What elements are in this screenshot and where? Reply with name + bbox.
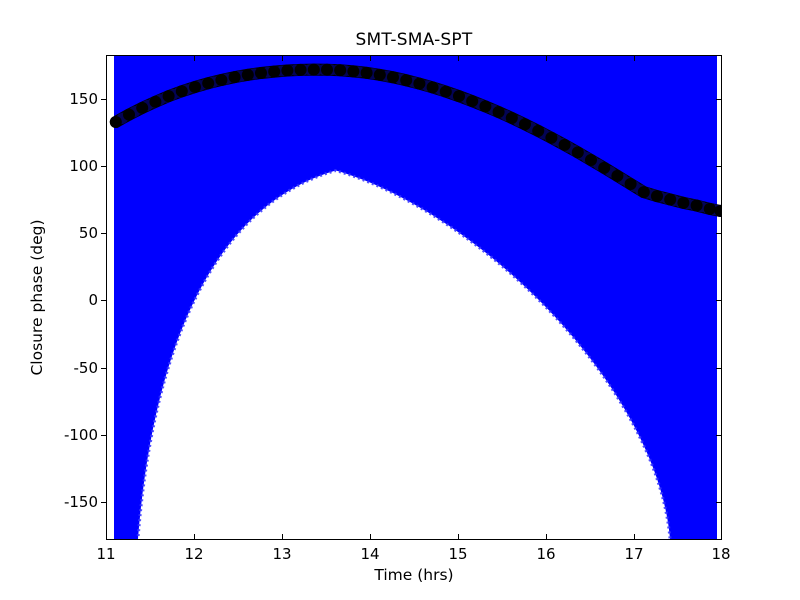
xtick-mark-top-14 xyxy=(370,56,371,61)
data-point-marker xyxy=(664,193,676,205)
xtick-mark-top-13 xyxy=(282,56,283,61)
data-point-marker xyxy=(598,162,610,174)
data-point-marker xyxy=(149,96,161,108)
data-point-marker xyxy=(202,77,214,89)
xtick-mark-top-12 xyxy=(194,56,195,61)
data-point-marker xyxy=(295,64,307,76)
xtick-mark-14 xyxy=(370,534,371,539)
xtick-mark-17 xyxy=(634,534,635,539)
data-point-marker xyxy=(308,64,320,76)
ytick-mark-right-neg100 xyxy=(716,435,721,436)
data-point-marker xyxy=(427,81,439,93)
data-point-marker xyxy=(572,146,584,158)
ytick-mark-right-100 xyxy=(716,166,721,167)
data-point-marker xyxy=(268,66,280,78)
data-point-marker xyxy=(163,90,175,102)
xtick-label-12: 12 xyxy=(164,545,224,563)
x-axis-label: Time (hrs) xyxy=(106,566,722,584)
xtick-label-15: 15 xyxy=(428,545,488,563)
data-point-marker xyxy=(559,139,571,151)
ytick-mark-neg100 xyxy=(101,435,106,436)
data-point-marker xyxy=(479,100,491,112)
ytick-mark-50 xyxy=(101,233,106,234)
data-point-marker xyxy=(255,67,267,79)
ytick-mark-right-0 xyxy=(716,300,721,301)
data-point-marker xyxy=(347,65,359,77)
data-point-marker xyxy=(453,90,465,102)
data-point-marker xyxy=(506,112,518,124)
data-point-marker xyxy=(189,81,201,93)
ytick-mark-neg150 xyxy=(101,502,106,503)
xtick-label-18: 18 xyxy=(691,545,751,563)
xtick-mark-top-17 xyxy=(634,56,635,61)
ytick-label-100: 100 xyxy=(38,157,98,175)
xtick-mark-13 xyxy=(282,534,283,539)
ytick-mark-right-50 xyxy=(716,233,721,234)
xtick-label-16: 16 xyxy=(516,545,576,563)
data-point-marker xyxy=(387,71,399,83)
data-point-marker xyxy=(176,85,188,97)
xtick-label-11: 11 xyxy=(76,545,136,563)
ytick-label-0: 0 xyxy=(38,291,98,309)
ytick-mark-right-150 xyxy=(716,99,721,100)
data-point-marker xyxy=(374,69,386,81)
xtick-mark-16 xyxy=(546,534,547,539)
data-point-marker xyxy=(519,118,531,130)
data-point-marker xyxy=(110,116,122,128)
data-point-marker xyxy=(281,65,293,77)
data-point-marker xyxy=(361,67,373,79)
figure-canvas: SMT-SMA-SPT xyxy=(0,0,800,600)
data-point-marker xyxy=(532,125,544,137)
data-point-marker xyxy=(136,102,148,114)
chart-title: SMT-SMA-SPT xyxy=(106,30,722,50)
data-point-marker xyxy=(585,154,597,166)
data-point-marker xyxy=(493,106,505,118)
ytick-label-neg100: -100 xyxy=(38,426,98,444)
data-point-marker xyxy=(704,203,716,215)
xtick-mark-top-15 xyxy=(458,56,459,61)
ytick-label-neg150: -150 xyxy=(38,493,98,511)
y-axis-label: Closure phase (deg) xyxy=(28,55,46,540)
xtick-mark-11 xyxy=(106,534,107,539)
data-point-marker xyxy=(440,86,452,98)
ytick-mark-right-neg150 xyxy=(716,502,721,503)
ytick-mark-0 xyxy=(101,300,106,301)
ytick-label-150: 150 xyxy=(38,90,98,108)
ytick-label-neg50: -50 xyxy=(38,359,98,377)
plot-svg xyxy=(107,56,722,540)
plot-area xyxy=(106,55,722,540)
data-point-marker xyxy=(638,186,650,198)
ytick-mark-100 xyxy=(101,166,106,167)
ytick-label-50: 50 xyxy=(38,224,98,242)
data-point-marker xyxy=(229,71,241,83)
data-point-marker xyxy=(651,190,663,202)
data-point-marker xyxy=(611,170,623,182)
data-point-marker xyxy=(400,74,412,86)
data-point-marker xyxy=(625,178,637,190)
ytick-mark-neg50 xyxy=(101,368,106,369)
data-point-marker xyxy=(321,64,333,76)
data-point-marker xyxy=(123,109,135,121)
data-point-marker xyxy=(545,132,557,144)
blue-error-band xyxy=(114,56,717,540)
data-point-marker xyxy=(413,78,425,90)
xtick-label-13: 13 xyxy=(252,545,312,563)
xtick-mark-18 xyxy=(721,534,722,539)
data-point-marker xyxy=(242,69,254,81)
data-point-marker xyxy=(334,64,346,76)
ytick-mark-150 xyxy=(101,99,106,100)
data-point-marker xyxy=(691,200,703,212)
ytick-mark-right-neg50 xyxy=(716,368,721,369)
data-point-marker xyxy=(466,95,478,107)
data-point-marker xyxy=(677,197,689,209)
xtick-label-17: 17 xyxy=(604,545,664,563)
xtick-label-14: 14 xyxy=(340,545,400,563)
xtick-mark-top-16 xyxy=(546,56,547,61)
xtick-mark-12 xyxy=(194,534,195,539)
xtick-mark-15 xyxy=(458,534,459,539)
data-point-marker xyxy=(215,74,227,86)
